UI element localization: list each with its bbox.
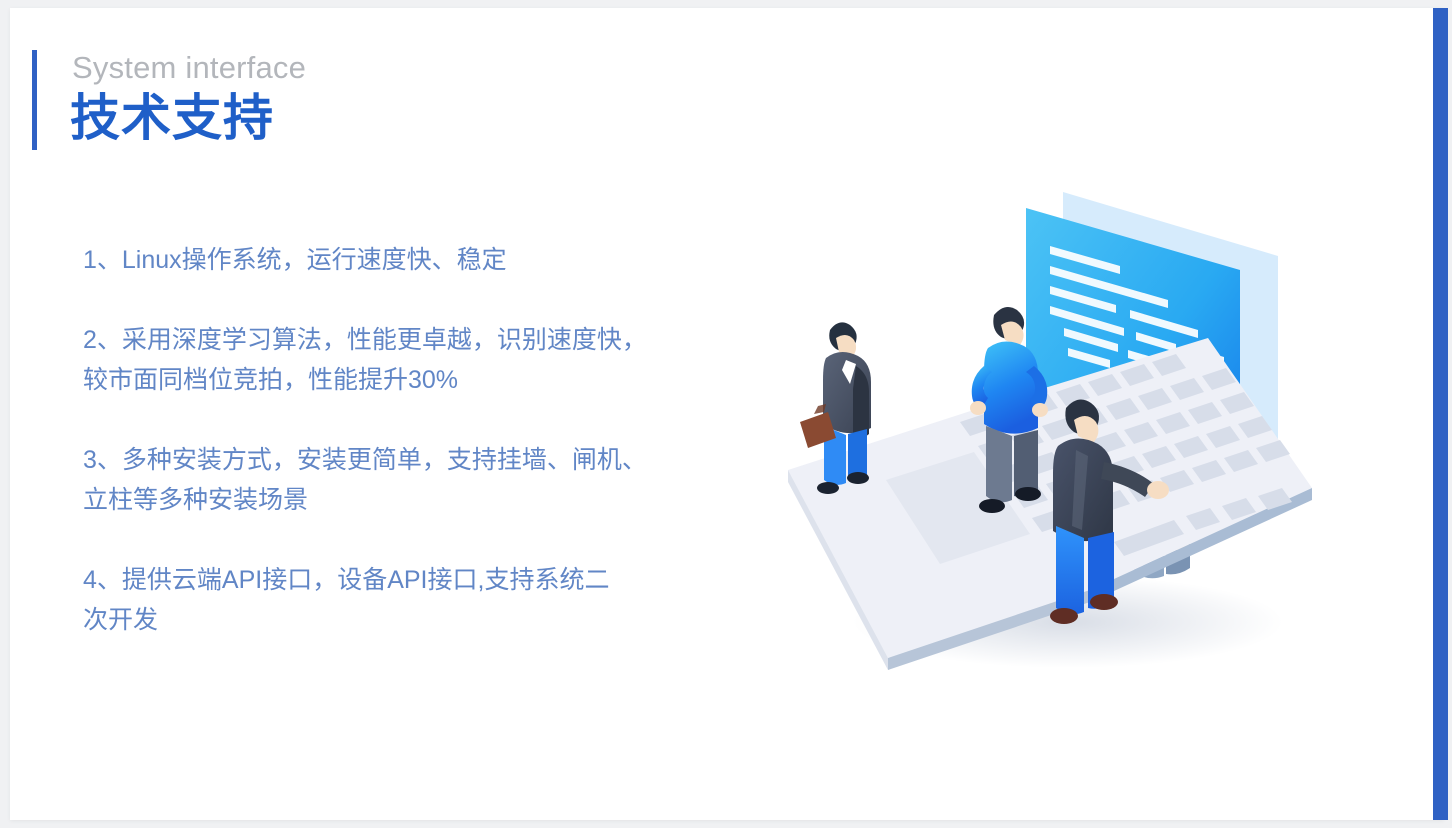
- page-title: 技术支持: [70, 86, 274, 150]
- list-item: 2、采用深度学习算法，性能更卓越，识别速度快， 较市面同档位竞拍，性能提升30%: [83, 320, 723, 400]
- list-item: 3、多种安装方式，安装更简单，支持挂墙、闸机、 立柱等多种安装场景: [83, 440, 723, 520]
- title-accent-bar: [32, 50, 37, 150]
- title-kicker: System interface: [72, 48, 306, 88]
- slide-root: System interface 技术支持 1、Linux操作系统，运行速度快、…: [0, 0, 1452, 828]
- list-item: 1、Linux操作系统，运行速度快、稳定: [83, 240, 723, 280]
- right-edge-accent-bar: [1433, 8, 1448, 820]
- feature-list: 1、Linux操作系统，运行速度快、稳定 2、采用深度学习算法，性能更卓越，识别…: [83, 240, 723, 640]
- list-item: 4、提供云端API接口，设备API接口,支持系统二 次开发: [83, 560, 723, 640]
- isometric-laptop-illustration: [768, 170, 1328, 670]
